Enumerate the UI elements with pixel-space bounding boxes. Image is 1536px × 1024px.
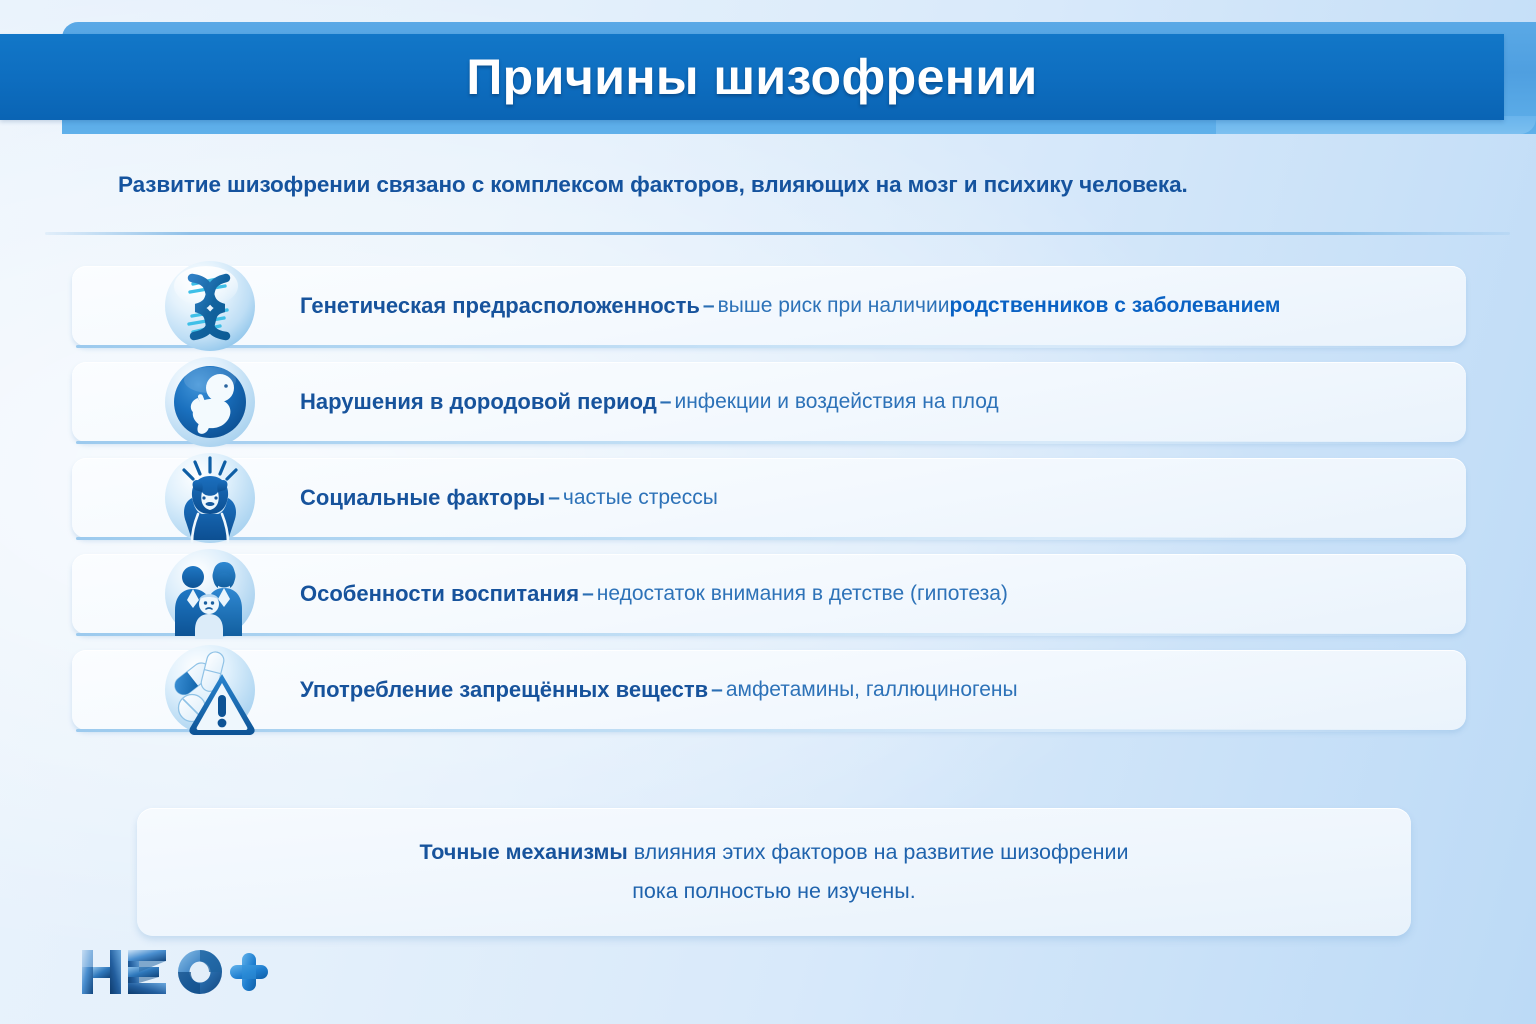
row-title: Особенности воспитания — [300, 581, 579, 607]
row-highlight: родственников с заболеванием — [949, 294, 1280, 318]
row-dash: – — [545, 486, 563, 510]
row-dash: – — [657, 390, 675, 414]
neo-plus-logo[interactable] — [80, 944, 280, 1000]
intro-divider — [45, 232, 1510, 235]
row-text: Нарушения в дородовой период – инфекции … — [300, 362, 999, 442]
row-underline — [76, 537, 1462, 540]
row-detail: частые стрессы — [563, 486, 718, 510]
row-title: Социальные факторы — [300, 485, 545, 511]
row-dash: – — [708, 678, 726, 702]
fetus-icon — [162, 354, 258, 450]
row-detail: выше риск при наличии — [718, 294, 950, 318]
conclusion-rest: влияния этих факторов на развитие шизофр… — [628, 840, 1129, 864]
row-card — [72, 458, 1466, 538]
list-item[interactable]: Социальные факторы – частые стрессы — [0, 458, 1536, 538]
list-item[interactable]: Особенности воспитания – недостаток вним… — [0, 554, 1536, 634]
row-dash: – — [579, 582, 597, 606]
row-detail: недостаток внимания в детстве (гипотеза) — [597, 582, 1008, 606]
dna-helix-icon — [162, 258, 258, 354]
pills-warning-icon — [162, 642, 258, 738]
list-item[interactable]: Нарушения в дородовой период – инфекции … — [0, 362, 1536, 442]
conclusion-line-1: Точные механизмы влияния этих факторов н… — [420, 840, 1129, 865]
row-detail: амфетамины, галлюциногены — [726, 678, 1018, 702]
row-title: Генетическая предрасположенность — [300, 293, 700, 319]
row-detail: инфекции и воздействия на плод — [674, 390, 998, 414]
list-item[interactable]: Генетическая предрасположенность – выше … — [0, 266, 1536, 346]
conclusion-bold: Точные механизмы — [420, 840, 628, 864]
row-text: Социальные факторы – частые стрессы — [300, 458, 718, 538]
row-text: Особенности воспитания – недостаток вним… — [300, 554, 1008, 634]
intro-text: Развитие шизофрении связано с комплексом… — [118, 172, 1438, 198]
stressed-person-icon — [162, 450, 258, 546]
page-title: Причины шизофрении — [0, 34, 1504, 120]
row-title: Употребление запрещённых веществ — [300, 677, 708, 703]
row-text: Генетическая предрасположенность – выше … — [300, 266, 1280, 346]
family-icon — [162, 546, 258, 642]
factors-list: Генетическая предрасположенность – выше … — [0, 266, 1536, 746]
row-text: Употребление запрещённых веществ – амфет… — [300, 650, 1018, 730]
row-title: Нарушения в дородовой период — [300, 389, 657, 415]
conclusion-line-2: пока полностью не изучены. — [632, 879, 915, 904]
conclusion-box: Точные механизмы влияния этих факторов н… — [137, 808, 1411, 936]
header: Причины шизофрении — [0, 0, 1536, 140]
row-dash: – — [700, 294, 718, 318]
list-item[interactable]: Употребление запрещённых веществ – амфет… — [0, 650, 1536, 730]
